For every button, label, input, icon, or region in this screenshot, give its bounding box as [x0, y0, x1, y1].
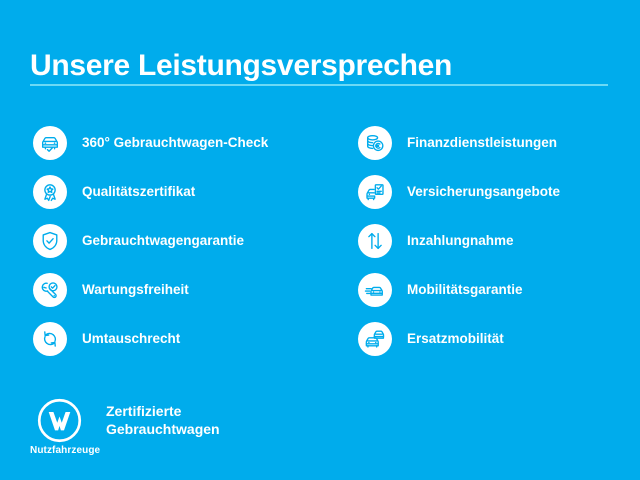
brand-mark: Nutzfahrzeuge — [30, 398, 98, 460]
benefit-item-umtauschrecht[interactable]: Umtauschrecht — [33, 322, 333, 356]
slide-canvas: Unsere Leistungsversprechen 360° Gebrauc… — [0, 0, 640, 480]
benefit-label: Qualitätszertifikat — [82, 184, 195, 200]
car-check-icon — [33, 126, 67, 160]
benefits-column-right: Finanzdienstleistungen Versicherungsange… — [358, 126, 633, 371]
shield-check-icon — [33, 224, 67, 258]
brand-claim: Zertifizierte Gebrauchtwagen — [106, 402, 220, 438]
benefit-label: Ersatzmobilität — [407, 331, 504, 347]
benefit-label: Inzahlungnahme — [407, 233, 514, 249]
benefit-label: Gebrauchtwagengarantie — [82, 233, 244, 249]
brand-lockup: Nutzfahrzeuge Zertifizierte Gebrauchtwag… — [30, 398, 220, 460]
brand-claim-line-2: Gebrauchtwagen — [106, 420, 220, 438]
vw-logo-icon — [37, 398, 82, 443]
benefit-label: 360° Gebrauchtwagen-Check — [82, 135, 268, 151]
two-cars-icon — [358, 322, 392, 356]
coins-euro-icon — [358, 126, 392, 160]
benefit-item-wartungsfreiheit[interactable]: Wartungsfreiheit — [33, 273, 333, 307]
benefit-item-mobilitaetsgarantie[interactable]: Mobilitätsgarantie — [358, 273, 633, 307]
car-speed-icon — [358, 273, 392, 307]
wrench-check-icon — [33, 273, 67, 307]
benefit-item-finanzdienstleistungen[interactable]: Finanzdienstleistungen — [358, 126, 633, 160]
benefits-column-left: 360° Gebrauchtwagen-Check Qualitätszerti… — [33, 126, 333, 371]
benefit-item-gebrauchtwagengarantie[interactable]: Gebrauchtwagengarantie — [33, 224, 333, 258]
benefit-label: Versicherungsangebote — [407, 184, 560, 200]
benefit-item-ersatzmobilitaet[interactable]: Ersatzmobilität — [358, 322, 633, 356]
exchange-arrows-icon — [33, 322, 67, 356]
benefit-label: Finanzdienstleistungen — [407, 135, 557, 151]
benefit-item-gebrauchtwagen-check[interactable]: 360° Gebrauchtwagen-Check — [33, 126, 333, 160]
award-rosette-icon — [33, 175, 67, 209]
car-document-check-icon — [358, 175, 392, 209]
arrows-up-down-icon — [358, 224, 392, 258]
brand-claim-line-1: Zertifizierte — [106, 402, 220, 420]
benefit-label: Mobilitätsgarantie — [407, 282, 523, 298]
benefit-label: Umtauschrecht — [82, 331, 180, 347]
page-title: Unsere Leistungsversprechen — [30, 48, 452, 84]
title-divider — [30, 84, 608, 86]
benefit-item-qualitaetszertifikat[interactable]: Qualitätszertifikat — [33, 175, 333, 209]
benefit-label: Wartungsfreiheit — [82, 282, 189, 298]
benefit-item-inzahlungnahme[interactable]: Inzahlungnahme — [358, 224, 633, 258]
benefit-item-versicherungsangebote[interactable]: Versicherungsangebote — [358, 175, 633, 209]
brand-subline: Nutzfahrzeuge — [30, 445, 100, 456]
